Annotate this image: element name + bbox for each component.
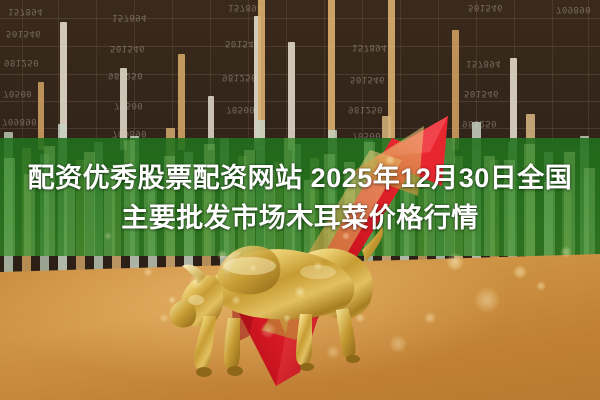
bokeh-light [294,286,306,298]
bokeh-light [389,335,407,353]
bokeh-light [424,312,436,324]
bokeh-light [249,264,257,272]
title-line-2: 主要批发市场木耳菜价格行情 [0,198,600,238]
banner-image: 1578945015469812507050070989015789450154… [0,0,600,400]
bokeh-light [326,345,340,359]
bokeh-light [536,281,546,291]
bokeh-light [168,296,176,304]
bokeh-light [231,295,241,305]
banner-title: 配资优秀股票配资网站 2025年12月30日全国 主要批发市场木耳菜价格行情 [0,158,600,238]
bokeh-light [474,287,500,313]
bokeh-light [159,313,169,323]
bokeh-light [217,250,227,260]
bokeh-light [313,261,323,271]
title-line-1: 配资优秀股票配资网站 2025年12月30日全国 [0,158,600,198]
bokeh-light [143,267,153,277]
bokeh-light [355,313,365,323]
bokeh-light [560,246,572,258]
bokeh-light [283,314,291,322]
bokeh-light [446,253,464,271]
bokeh-light [513,265,527,279]
bokeh-light [189,275,203,289]
bokeh-light [260,322,276,338]
